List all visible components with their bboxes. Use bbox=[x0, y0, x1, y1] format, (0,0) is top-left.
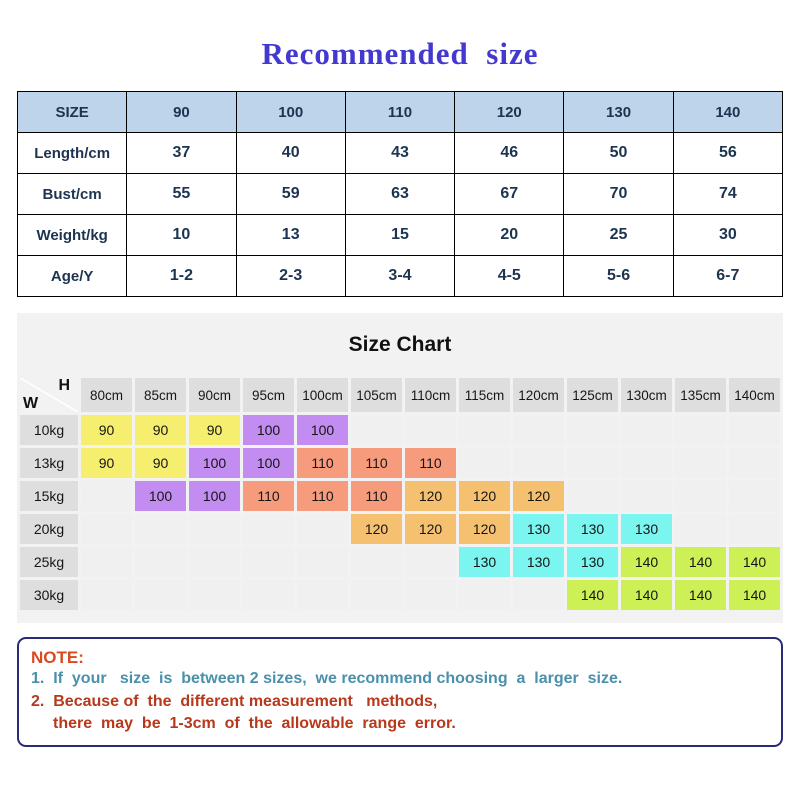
size-cell-empty bbox=[513, 580, 564, 610]
size-chart-row: 10kg909090100100 bbox=[20, 415, 780, 445]
size-cell-130: 130 bbox=[459, 547, 510, 577]
size-cell-130: 130 bbox=[567, 547, 618, 577]
weight-row-header-25kg: 25kg bbox=[20, 547, 78, 577]
size-cell-140: 140 bbox=[675, 547, 726, 577]
size-cell-110: 110 bbox=[351, 448, 402, 478]
height-axis-label: H bbox=[58, 378, 70, 394]
size-cell-130: 130 bbox=[513, 547, 564, 577]
size-cell-empty bbox=[675, 415, 726, 445]
table-cell: 46 bbox=[455, 133, 564, 174]
size-cell-empty bbox=[243, 547, 294, 577]
size-cell-empty bbox=[729, 415, 780, 445]
table-cell: 3-4 bbox=[345, 256, 454, 297]
size-cell-100: 100 bbox=[189, 481, 240, 511]
size-chart-title: Size Chart bbox=[17, 313, 783, 375]
row-label: Bust/cm bbox=[18, 174, 127, 215]
recommended-header-140: 140 bbox=[673, 92, 782, 133]
note-box: NOTE: 1. If your size is between 2 sizes… bbox=[17, 637, 783, 747]
size-cell-empty bbox=[675, 481, 726, 511]
height-column-header-90cm: 90cm bbox=[189, 378, 240, 412]
recommended-header-90: 90 bbox=[127, 92, 236, 133]
weight-row-header-15kg: 15kg bbox=[20, 481, 78, 511]
size-cell-empty bbox=[189, 514, 240, 544]
size-cell-90: 90 bbox=[135, 415, 186, 445]
table-cell: 5-6 bbox=[564, 256, 673, 297]
size-cell-empty bbox=[621, 415, 672, 445]
table-row: Bust/cm555963677074 bbox=[18, 174, 783, 215]
table-cell: 55 bbox=[127, 174, 236, 215]
size-cell-empty bbox=[621, 481, 672, 511]
size-cell-empty bbox=[459, 448, 510, 478]
size-cell-empty bbox=[135, 514, 186, 544]
size-cell-130: 130 bbox=[567, 514, 618, 544]
note-line-2: 2. Because of the different measurement … bbox=[31, 691, 771, 713]
size-chart-head: W H 80cm85cm90cm95cm100cm105cm110cm115cm… bbox=[20, 378, 780, 412]
size-chart-row: 25kg130130130140140140 bbox=[20, 547, 780, 577]
row-label: Age/Y bbox=[18, 256, 127, 297]
size-cell-empty bbox=[729, 481, 780, 511]
table-cell: 4-5 bbox=[455, 256, 564, 297]
table-cell: 10 bbox=[127, 215, 236, 256]
table-cell: 67 bbox=[455, 174, 564, 215]
size-cell-140: 140 bbox=[621, 547, 672, 577]
size-cell-empty bbox=[243, 580, 294, 610]
size-cell-100: 100 bbox=[135, 481, 186, 511]
size-cell-120: 120 bbox=[405, 514, 456, 544]
table-cell: 63 bbox=[345, 174, 454, 215]
recommended-header-110: 110 bbox=[345, 92, 454, 133]
row-label: Length/cm bbox=[18, 133, 127, 174]
size-cell-140: 140 bbox=[567, 580, 618, 610]
size-cell-110: 110 bbox=[297, 481, 348, 511]
height-column-header-100cm: 100cm bbox=[297, 378, 348, 412]
size-cell-empty bbox=[621, 448, 672, 478]
size-cell-empty bbox=[135, 547, 186, 577]
size-cell-120: 120 bbox=[405, 481, 456, 511]
table-cell: 70 bbox=[564, 174, 673, 215]
size-cell-empty bbox=[405, 580, 456, 610]
page-title: Recommended size bbox=[0, 0, 800, 69]
table-cell: 50 bbox=[564, 133, 673, 174]
table-cell: 30 bbox=[673, 215, 782, 256]
size-cell-empty bbox=[81, 514, 132, 544]
table-row: Age/Y1-22-33-44-55-66-7 bbox=[18, 256, 783, 297]
size-cell-110: 110 bbox=[405, 448, 456, 478]
size-cell-140: 140 bbox=[729, 547, 780, 577]
recommended-size-table-body: Length/cm374043465056Bust/cm555963677074… bbox=[18, 133, 783, 297]
table-row: Length/cm374043465056 bbox=[18, 133, 783, 174]
size-cell-empty bbox=[297, 547, 348, 577]
size-cell-120: 120 bbox=[459, 481, 510, 511]
height-column-header-135cm: 135cm bbox=[675, 378, 726, 412]
size-cell-empty bbox=[189, 547, 240, 577]
table-cell: 56 bbox=[673, 133, 782, 174]
size-cell-empty bbox=[675, 448, 726, 478]
size-cell-90: 90 bbox=[81, 415, 132, 445]
size-cell-130: 130 bbox=[513, 514, 564, 544]
axis-corner-cell: W H bbox=[20, 378, 78, 412]
size-cell-110: 110 bbox=[243, 481, 294, 511]
recommended-size-table-head: SIZE90100110120130140 bbox=[18, 92, 783, 133]
size-chart-row: 30kg140140140140 bbox=[20, 580, 780, 610]
weight-row-header-20kg: 20kg bbox=[20, 514, 78, 544]
recommended-size-table-wrapper: SIZE90100110120130140 Length/cm374043465… bbox=[17, 91, 783, 297]
table-header-row: SIZE90100110120130140 bbox=[18, 92, 783, 133]
weight-row-header-13kg: 13kg bbox=[20, 448, 78, 478]
size-cell-empty bbox=[81, 547, 132, 577]
size-cell-130: 130 bbox=[621, 514, 672, 544]
table-row: Weight/kg101315202530 bbox=[18, 215, 783, 256]
height-column-header-85cm: 85cm bbox=[135, 378, 186, 412]
size-cell-120: 120 bbox=[351, 514, 402, 544]
table-cell: 59 bbox=[236, 174, 345, 215]
size-cell-empty bbox=[513, 448, 564, 478]
table-cell: 25 bbox=[564, 215, 673, 256]
size-chart-row: 15kg100100110110110120120120 bbox=[20, 481, 780, 511]
size-cell-90: 90 bbox=[81, 448, 132, 478]
size-cell-empty bbox=[297, 580, 348, 610]
recommended-header-100: 100 bbox=[236, 92, 345, 133]
height-column-header-95cm: 95cm bbox=[243, 378, 294, 412]
size-cell-empty bbox=[567, 415, 618, 445]
size-cell-empty bbox=[729, 448, 780, 478]
size-cell-100: 100 bbox=[189, 448, 240, 478]
size-cell-empty bbox=[135, 580, 186, 610]
size-cell-110: 110 bbox=[351, 481, 402, 511]
weight-row-header-10kg: 10kg bbox=[20, 415, 78, 445]
table-cell: 13 bbox=[236, 215, 345, 256]
table-cell: 43 bbox=[345, 133, 454, 174]
size-cell-100: 100 bbox=[243, 415, 294, 445]
table-cell: 37 bbox=[127, 133, 236, 174]
note-line-3: there may be 1-3cm of the allowable rang… bbox=[31, 713, 771, 735]
size-cell-empty bbox=[459, 415, 510, 445]
size-cell-100: 100 bbox=[243, 448, 294, 478]
table-cell: 2-3 bbox=[236, 256, 345, 297]
recommended-header-size: SIZE bbox=[18, 92, 127, 133]
size-cell-100: 100 bbox=[297, 415, 348, 445]
height-column-header-110cm: 110cm bbox=[405, 378, 456, 412]
size-chart-grid: W H 80cm85cm90cm95cm100cm105cm110cm115cm… bbox=[17, 375, 783, 613]
size-cell-140: 140 bbox=[675, 580, 726, 610]
size-cell-110: 110 bbox=[297, 448, 348, 478]
size-cell-empty bbox=[567, 481, 618, 511]
height-column-header-120cm: 120cm bbox=[513, 378, 564, 412]
table-cell: 6-7 bbox=[673, 256, 782, 297]
size-cell-120: 120 bbox=[459, 514, 510, 544]
table-cell: 15 bbox=[345, 215, 454, 256]
size-cell-empty bbox=[675, 514, 726, 544]
size-cell-empty bbox=[729, 514, 780, 544]
size-cell-empty bbox=[189, 580, 240, 610]
size-chart-header-row: W H 80cm85cm90cm95cm100cm105cm110cm115cm… bbox=[20, 378, 780, 412]
height-column-header-80cm: 80cm bbox=[81, 378, 132, 412]
size-cell-empty bbox=[297, 514, 348, 544]
size-cell-empty bbox=[351, 415, 402, 445]
size-cell-empty bbox=[81, 481, 132, 511]
size-cell-empty bbox=[405, 415, 456, 445]
size-cell-empty bbox=[459, 580, 510, 610]
size-cell-140: 140 bbox=[729, 580, 780, 610]
table-cell: 20 bbox=[455, 215, 564, 256]
size-cell-empty bbox=[513, 415, 564, 445]
size-cell-empty bbox=[351, 580, 402, 610]
size-chart-row: 20kg120120120130130130 bbox=[20, 514, 780, 544]
table-cell: 1-2 bbox=[127, 256, 236, 297]
recommended-header-120: 120 bbox=[455, 92, 564, 133]
size-chart-body: 10kg90909010010013kg90901001001101101101… bbox=[20, 415, 780, 610]
size-cell-empty bbox=[567, 448, 618, 478]
table-cell: 40 bbox=[236, 133, 345, 174]
size-cell-90: 90 bbox=[135, 448, 186, 478]
row-label: Weight/kg bbox=[18, 215, 127, 256]
height-column-header-130cm: 130cm bbox=[621, 378, 672, 412]
recommended-size-table: SIZE90100110120130140 Length/cm374043465… bbox=[17, 91, 783, 297]
height-column-header-125cm: 125cm bbox=[567, 378, 618, 412]
size-cell-empty bbox=[243, 514, 294, 544]
height-column-header-105cm: 105cm bbox=[351, 378, 402, 412]
size-chart-panel: Size Chart W H 80cm85cm90cm95cm100cm105c… bbox=[17, 313, 783, 623]
height-column-header-115cm: 115cm bbox=[459, 378, 510, 412]
size-cell-empty bbox=[351, 547, 402, 577]
recommended-header-130: 130 bbox=[564, 92, 673, 133]
size-cell-120: 120 bbox=[513, 481, 564, 511]
weight-axis-label: W bbox=[23, 396, 38, 412]
size-cell-empty bbox=[81, 580, 132, 610]
size-cell-90: 90 bbox=[189, 415, 240, 445]
height-column-header-140cm: 140cm bbox=[729, 378, 780, 412]
note-heading: NOTE: bbox=[31, 647, 771, 668]
table-cell: 74 bbox=[673, 174, 782, 215]
size-cell-140: 140 bbox=[621, 580, 672, 610]
size-chart-row: 13kg9090100100110110110 bbox=[20, 448, 780, 478]
weight-row-header-30kg: 30kg bbox=[20, 580, 78, 610]
note-line-1: 1. If your size is between 2 sizes, we r… bbox=[31, 668, 771, 690]
size-cell-empty bbox=[405, 547, 456, 577]
